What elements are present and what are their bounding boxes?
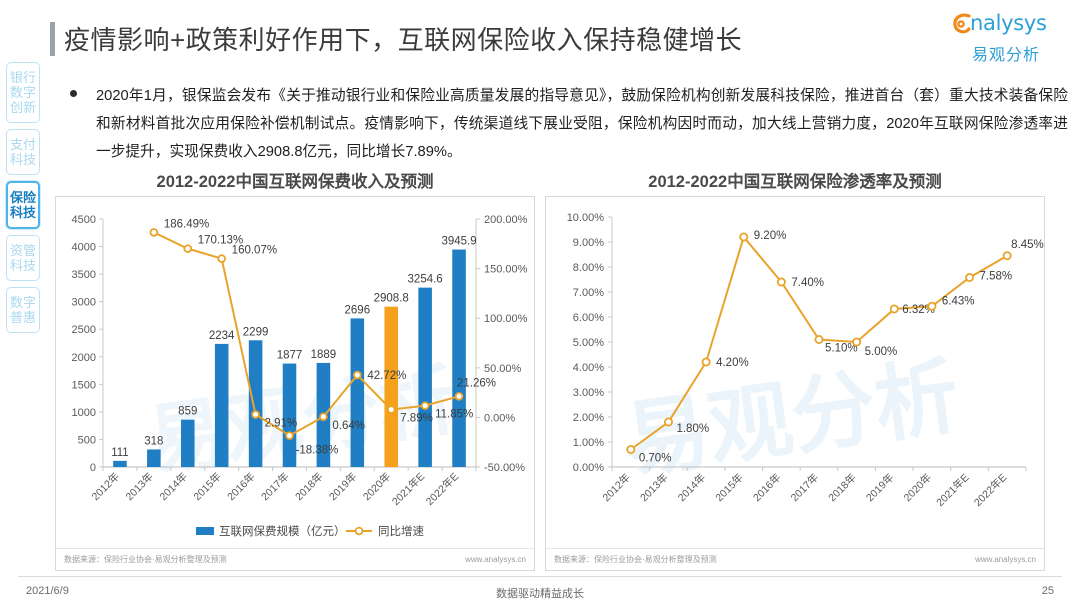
bar [147, 449, 161, 467]
svg-text:2017年: 2017年 [258, 470, 291, 503]
svg-text:2500: 2500 [72, 324, 96, 336]
svg-text:0.64%: 0.64% [332, 420, 365, 432]
svg-text:6.43%: 6.43% [942, 295, 975, 307]
chart-panel-premium: 易观分析050010001500200025003000350040004500… [55, 196, 535, 571]
bar [384, 307, 398, 467]
svg-text:8.00%: 8.00% [573, 262, 604, 274]
svg-text:0.70%: 0.70% [639, 453, 672, 465]
svg-text:2908.8: 2908.8 [374, 293, 409, 305]
svg-text:0.00%: 0.00% [484, 412, 515, 424]
svg-text:0: 0 [90, 462, 96, 474]
svg-text:160.07%: 160.07% [232, 245, 277, 257]
svg-text:1889: 1889 [311, 349, 337, 361]
sidebar-item-asset[interactable]: 资管科技 [6, 235, 40, 281]
svg-text:7.58%: 7.58% [980, 271, 1013, 283]
svg-text:2020年: 2020年 [901, 471, 934, 504]
penetration-chart-svg: 易观分析0.00%1.00%2.00%3.00%4.00%5.00%6.00%7… [546, 197, 1044, 549]
sidebar-item-label: 支付科技 [9, 137, 37, 167]
svg-text:2019年: 2019年 [863, 471, 896, 504]
svg-text:7.40%: 7.40% [791, 277, 824, 289]
svg-text:2022年E: 2022年E [423, 470, 461, 508]
svg-text:1500: 1500 [72, 379, 96, 391]
svg-text:2020年: 2020年 [360, 470, 393, 503]
sidebar-item-inclusive[interactable]: 数字普惠 [6, 287, 40, 333]
svg-text:1.80%: 1.80% [676, 423, 709, 435]
svg-text:3000: 3000 [72, 297, 96, 309]
svg-text:-50.00%: -50.00% [484, 462, 525, 474]
svg-text:9.20%: 9.20% [754, 230, 787, 242]
source-text: 数据来源：保险行业协会·易观分析整理及预测 [64, 554, 227, 565]
svg-text:7.00%: 7.00% [573, 287, 604, 299]
svg-text:150.00%: 150.00% [484, 264, 528, 276]
svg-text:6.00%: 6.00% [573, 312, 604, 324]
svg-text:10.00%: 10.00% [567, 212, 605, 224]
svg-text:21.26%: 21.26% [457, 377, 496, 389]
svg-text:859: 859 [178, 406, 197, 418]
svg-text:4.20%: 4.20% [716, 357, 749, 369]
svg-text:3945.9: 3945.9 [441, 236, 476, 248]
svg-text:7.89%: 7.89% [400, 413, 433, 425]
svg-text:4500: 4500 [72, 214, 96, 226]
sidebar-item-label: 保险科技 [10, 190, 36, 220]
logo-wordmark: nalysys [970, 11, 1047, 35]
svg-text:318: 318 [144, 435, 163, 447]
svg-text:1877: 1877 [277, 350, 303, 362]
premium-chart-svg: 易观分析050010001500200025003000350040004500… [56, 197, 534, 549]
svg-text:5.10%: 5.10% [825, 343, 858, 355]
sidebar-item-label: 数字普惠 [9, 295, 37, 325]
svg-text:2.00%: 2.00% [573, 412, 604, 424]
svg-text:2021年E: 2021年E [934, 471, 972, 509]
logo-chinese-name: 易观分析 [950, 41, 1062, 65]
svg-text:5.00%: 5.00% [573, 337, 604, 349]
footer-page-number: 25 [1042, 585, 1054, 597]
svg-text:100.00%: 100.00% [484, 313, 528, 325]
slide-page: 疫情影响+政策利好作用下，互联网保险收入保持稳健增长 nalysys 易观分析 … [0, 0, 1080, 608]
title-accent-bar [50, 22, 55, 56]
svg-text:42.72%: 42.72% [367, 370, 406, 382]
svg-text:2016年: 2016年 [750, 471, 783, 504]
svg-text:2012年: 2012年 [600, 471, 633, 504]
svg-text:500: 500 [78, 434, 96, 446]
bullet-text: 2020年1月，银保监会发布《关于推动银行业和保险业高质量发展的指导意见》，鼓励… [96, 82, 1068, 166]
source-text: 数据来源：保险行业协会·易观分析整理及预测 [554, 554, 717, 565]
svg-text:-18.38%: -18.38% [296, 445, 339, 457]
svg-text:3500: 3500 [72, 269, 96, 281]
svg-text:111: 111 [111, 447, 128, 459]
bar [351, 318, 365, 467]
sidebar-item-bank[interactable]: 银行数字创新 [6, 62, 40, 123]
svg-text:2299: 2299 [243, 326, 269, 338]
bar [249, 340, 263, 467]
svg-text:11.85%: 11.85% [435, 409, 473, 421]
bar [181, 420, 195, 467]
svg-text:1.00%: 1.00% [573, 437, 604, 449]
chart-panel-penetration: 易观分析0.00%1.00%2.00%3.00%4.00%5.00%6.00%7… [545, 196, 1045, 571]
svg-text:4000: 4000 [72, 242, 96, 254]
chart-title-premium: 2012-2022中国互联网保费收入及预测 [55, 168, 535, 192]
bar [215, 344, 229, 467]
footer-tagline: 数据驱动精益成长 [0, 585, 1080, 601]
source-bar-left: 数据来源：保险行业协会·易观分析整理及预测 www.analysys.cn [56, 548, 534, 570]
svg-text:2.91%: 2.91% [265, 418, 298, 430]
svg-text:2234: 2234 [209, 330, 235, 342]
bar [452, 250, 466, 467]
sidebar-item-label: 银行数字创新 [9, 70, 37, 115]
sidebar-item-payment[interactable]: 支付科技 [6, 129, 40, 175]
svg-text:2696: 2696 [345, 304, 371, 316]
page-title: 疫情影响+政策利好作用下，互联网保险收入保持稳健增长 [64, 20, 742, 57]
source-site: www.analysys.cn [975, 555, 1036, 564]
source-bar-right: 数据来源：保险行业协会·易观分析整理及预测 www.analysys.cn [546, 548, 1044, 570]
footer-divider [18, 576, 1062, 577]
svg-text:3.00%: 3.00% [573, 387, 604, 399]
svg-text:2012年: 2012年 [89, 470, 122, 503]
sidebar-nav[interactable]: 银行数字创新 支付科技 保险科技 资管科技 数字普惠 [6, 62, 44, 339]
svg-text:2013年: 2013年 [123, 470, 156, 503]
bar [113, 461, 127, 467]
svg-text:8.45%: 8.45% [1011, 239, 1044, 251]
svg-text:0.00%: 0.00% [573, 462, 604, 474]
svg-text:2022年E: 2022年E [971, 471, 1009, 509]
svg-text:5.00%: 5.00% [865, 346, 898, 358]
slide-footer: 2021/6/9 数据驱动精益成长 25 [0, 576, 1080, 608]
svg-text:186.49%: 186.49% [164, 218, 209, 230]
slide-header: 疫情影响+政策利好作用下，互联网保险收入保持稳健增长 nalysys 易观分析 [0, 0, 1080, 72]
svg-text:2018年: 2018年 [292, 470, 325, 503]
svg-text:200.00%: 200.00% [484, 214, 528, 226]
source-site: www.analysys.cn [465, 555, 526, 564]
svg-text:2017年: 2017年 [788, 471, 821, 504]
svg-text:2000: 2000 [72, 352, 96, 364]
chart-title-penetration: 2012-2022中国互联网保险渗透率及预测 [545, 168, 1045, 192]
analysys-logo: nalysys 易观分析 [950, 10, 1062, 64]
svg-text:4.00%: 4.00% [573, 362, 604, 374]
svg-text:2018年: 2018年 [826, 471, 859, 504]
svg-text:互联网保费规模（亿元）: 互联网保费规模（亿元） [219, 524, 346, 538]
svg-text:1000: 1000 [72, 407, 96, 419]
svg-text:3254.6: 3254.6 [408, 274, 443, 286]
sidebar-item-insurance[interactable]: 保险科技 [6, 181, 40, 229]
sidebar-item-label: 资管科技 [9, 243, 37, 273]
svg-text:2021年E: 2021年E [389, 470, 427, 508]
svg-text:9.00%: 9.00% [573, 237, 604, 249]
bar [283, 364, 297, 467]
bullet-dot-icon [70, 90, 77, 97]
bullet-paragraph: 2020年1月，银保监会发布《关于推动银行业和保险业高质量发展的指导意见》，鼓励… [68, 82, 1068, 166]
svg-text:50.00%: 50.00% [484, 363, 522, 375]
bar [418, 288, 432, 467]
svg-text:同比增速: 同比增速 [378, 524, 424, 538]
svg-text:2019年: 2019年 [326, 470, 359, 503]
